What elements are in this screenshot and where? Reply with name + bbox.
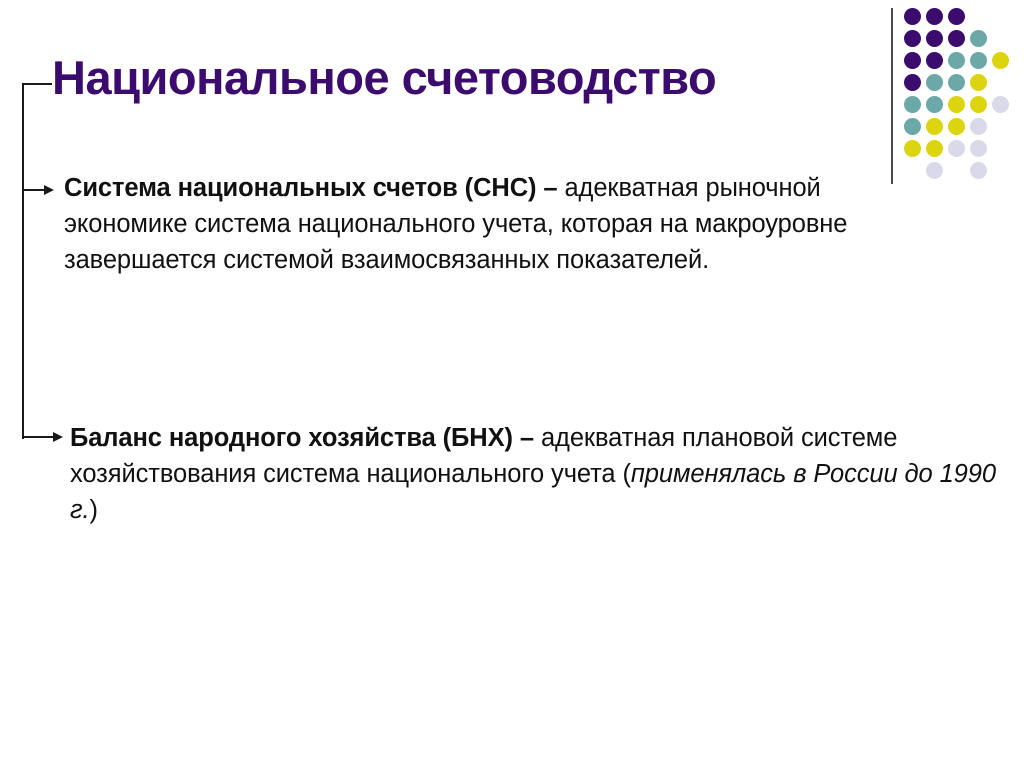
bullet-body-bnh-after: )	[89, 496, 97, 524]
decorative-dot	[992, 52, 1009, 69]
decorative-dot	[992, 96, 1009, 113]
decorative-dot	[926, 162, 943, 179]
decorative-dot	[904, 30, 921, 47]
bullet-paragraph-bnh: Баланс народного хозяйства (БНХ) – адекв…	[70, 420, 1000, 528]
decorative-dot	[970, 140, 987, 157]
decorative-dot	[926, 8, 943, 25]
bullet-term-sns: Система национальных счетов (СНС) –	[64, 174, 557, 202]
decorative-dot	[904, 118, 921, 135]
decorative-dot	[948, 140, 965, 157]
decorative-dot	[926, 52, 943, 69]
arrow-head-icon-first-bullet	[44, 185, 54, 195]
bracket-vertical-line	[22, 83, 24, 439]
bullet-paragraph-sns: Система национальных счетов (СНС) – адек…	[64, 170, 864, 278]
decorative-dot	[948, 96, 965, 113]
page-title: Национальное счетоводство	[52, 53, 882, 102]
decorative-dot	[948, 118, 965, 135]
arrow-line-first-bullet	[23, 189, 44, 191]
decorative-dot	[904, 140, 921, 157]
bullet-term-bnh: Баланс народного хозяйства (БНХ) –	[70, 424, 534, 452]
decorative-dot-grid	[904, 8, 1024, 188]
slide-canvas: Национальное счетоводство Система национ…	[0, 0, 1024, 767]
decorative-dot	[970, 30, 987, 47]
decorative-dot	[970, 52, 987, 69]
arrow-head-icon-second-bullet	[53, 432, 63, 442]
decorative-dot	[926, 96, 943, 113]
decorative-dot	[926, 140, 943, 157]
decorative-vertical-divider	[891, 8, 893, 184]
arrow-line-second-bullet	[23, 436, 53, 438]
decorative-dot	[926, 118, 943, 135]
bracket-top-connector	[22, 83, 52, 85]
decorative-dot	[904, 8, 921, 25]
decorative-dot	[970, 96, 987, 113]
decorative-dot	[970, 162, 987, 179]
decorative-dot	[948, 30, 965, 47]
decorative-dot	[904, 74, 921, 91]
decorative-dot	[904, 96, 921, 113]
decorative-dot	[926, 74, 943, 91]
decorative-dot	[970, 118, 987, 135]
decorative-dot	[948, 52, 965, 69]
decorative-dot	[948, 8, 965, 25]
decorative-dot	[970, 74, 987, 91]
decorative-dot	[926, 30, 943, 47]
decorative-dot	[904, 52, 921, 69]
decorative-dot	[948, 74, 965, 91]
